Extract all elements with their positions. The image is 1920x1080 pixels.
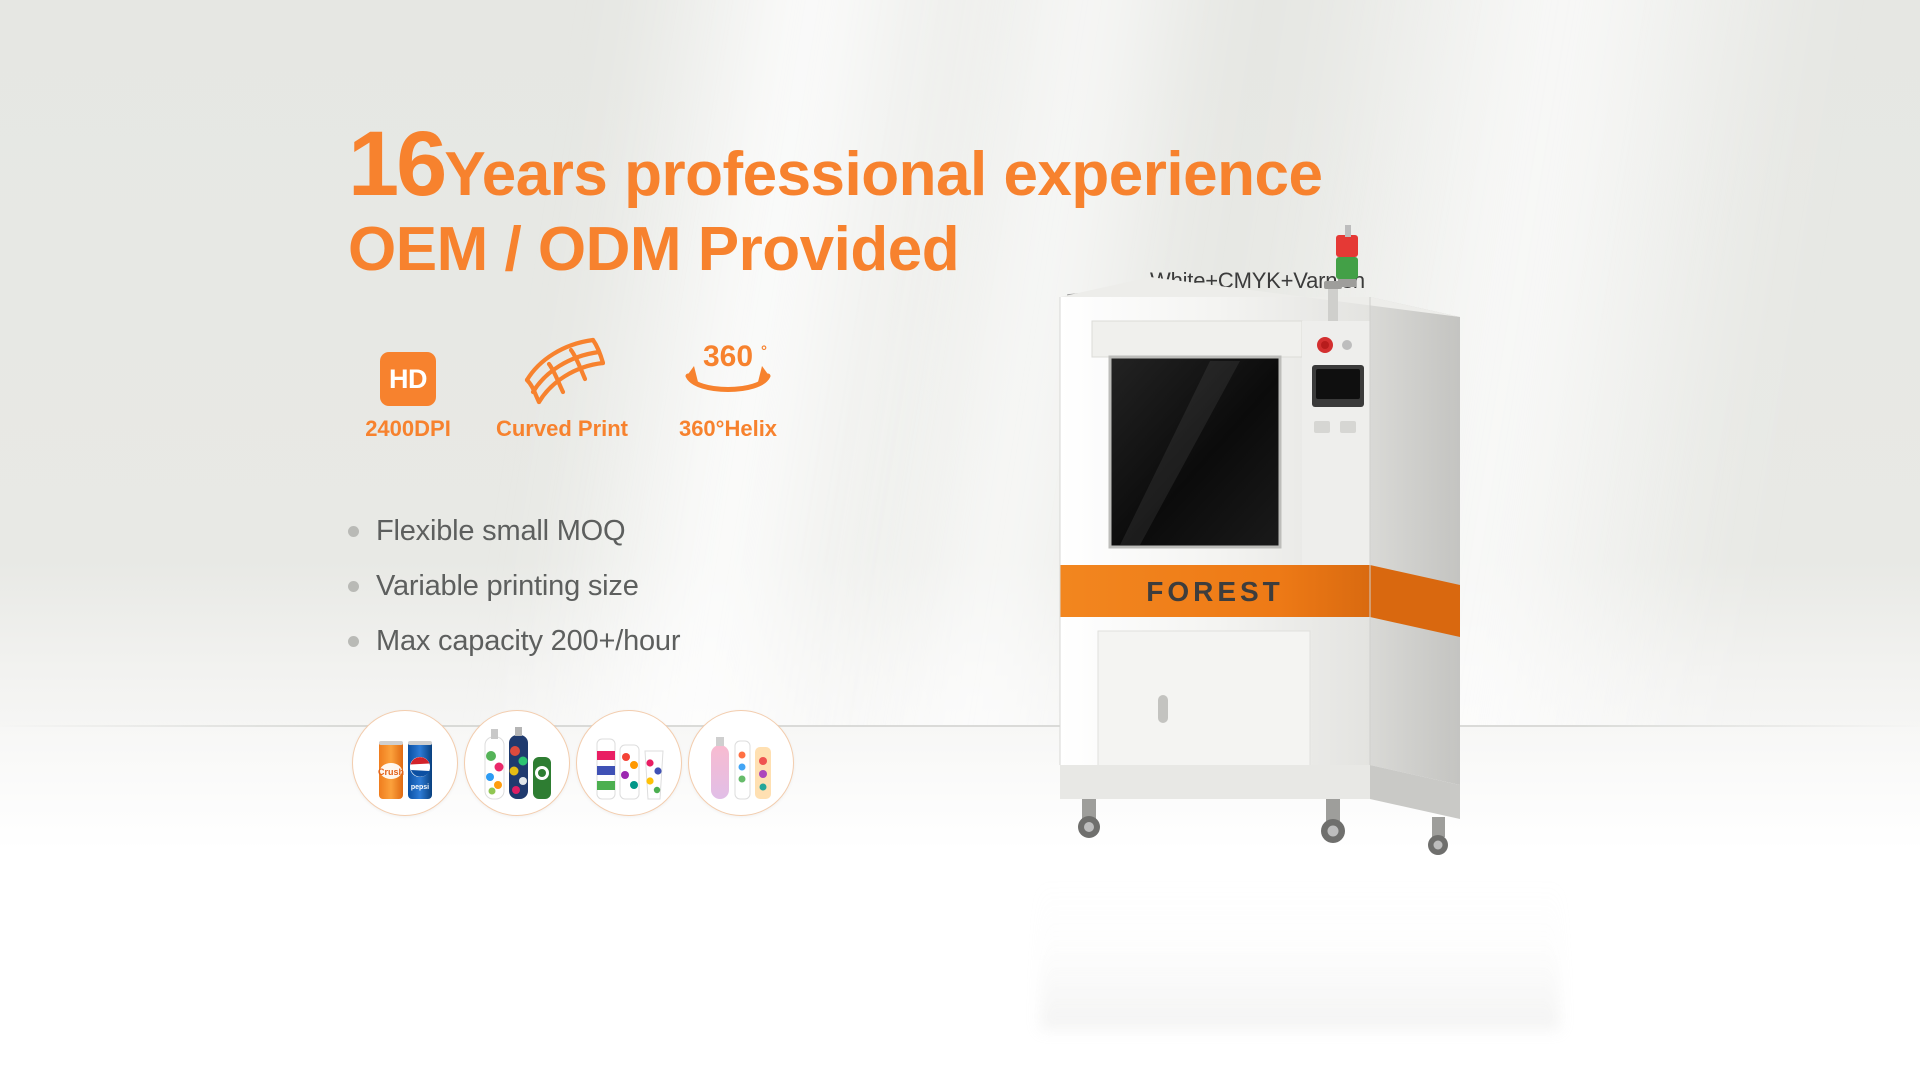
feature-label-curved-print: Curved Print	[472, 416, 652, 442]
bullet-dot-icon	[348, 581, 359, 592]
patterned-tumblers-thumbnail	[576, 710, 682, 816]
cosmetic-tubes-thumbnail	[688, 710, 794, 816]
feature-label-2400dpi: 2400DPI	[348, 416, 468, 442]
bullet-text: Flexible small MOQ	[376, 515, 625, 548]
headline-line-1-text: Years professional experience	[444, 140, 1322, 209]
headline-line-1: 16Years professional experience	[348, 118, 1368, 212]
machine-floor-reflection	[1040, 880, 1560, 1030]
feature-item-360-helix: 360 ° 360°Helix	[648, 330, 808, 442]
curved-grid-icon	[472, 330, 652, 406]
list-item: Variable printing size	[348, 570, 868, 603]
bullet-text: Max capacity 200+/hour	[376, 625, 680, 658]
copy-block: 16Years professional experience OEM / OD…	[0, 0, 1100, 1080]
banner-stage: 16Years professional experience OEM / OD…	[0, 0, 1920, 1080]
feature-icons-row: HD 2400DPI	[348, 330, 868, 450]
list-item: Max capacity 200+/hour	[348, 625, 868, 658]
machine-brand-text: FOREST	[1146, 576, 1284, 607]
beverage-cans-thumbnail: Crush pepsi	[352, 710, 458, 816]
feature-label-360-helix: 360°Helix	[648, 416, 808, 442]
svg-text:Crush: Crush	[378, 767, 404, 777]
feature-item-2400dpi: HD 2400DPI	[348, 330, 468, 442]
hd-badge-icon: HD	[348, 330, 468, 406]
list-item: Flexible small MOQ	[348, 515, 868, 548]
hd-badge-text: HD	[380, 352, 436, 406]
svg-text:360: 360	[703, 340, 753, 373]
rotation-360-icon: 360 °	[648, 330, 808, 406]
bullet-dot-icon	[348, 636, 359, 647]
bullet-list: Flexible small MOQ Variable printing siz…	[348, 515, 868, 680]
svg-text:°: °	[761, 343, 767, 360]
bullet-text: Variable printing size	[376, 570, 639, 603]
headline-years-number: 16	[348, 113, 444, 215]
printer-machine-illustration: FOREST	[1040, 225, 1560, 875]
printed-bottles-thumbnail	[464, 710, 570, 816]
svg-text:pepsi: pepsi	[411, 784, 429, 791]
product-thumbnail-row: Crush pepsi	[352, 710, 794, 816]
feature-item-curved-print: Curved Print	[472, 330, 652, 442]
bullet-dot-icon	[348, 526, 359, 537]
